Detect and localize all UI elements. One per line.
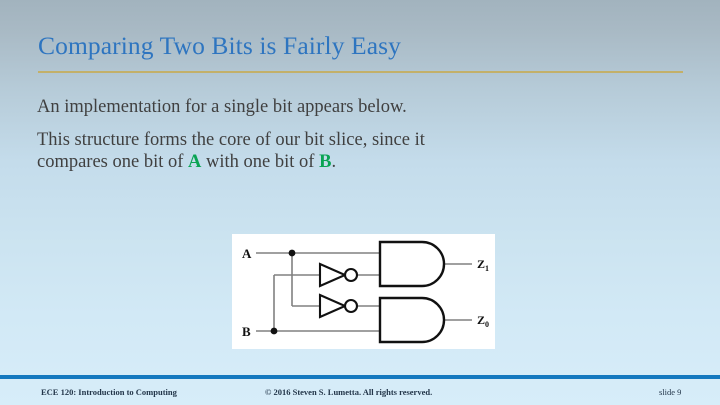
not-gate-top-bubble bbox=[345, 269, 357, 281]
junction-dot-a bbox=[289, 250, 296, 257]
junction-dot-b bbox=[271, 328, 278, 335]
logic-circuit-diagram: A B Z 1 Z 0 bbox=[232, 234, 495, 349]
slide-footer: ECE 120: Introduction to Computing © 201… bbox=[0, 379, 720, 405]
circuit-output-label-z0: Z 0 bbox=[477, 313, 489, 329]
paragraph-2-text-3: . bbox=[331, 152, 336, 172]
and-gate-bottom bbox=[380, 298, 444, 342]
circuit-output-z1-subscript: 1 bbox=[485, 264, 489, 273]
and-gate-top bbox=[380, 242, 444, 286]
paragraph-2-text-2: with one bit of bbox=[201, 152, 319, 172]
page-title: Comparing Two Bits is Fairly Easy bbox=[38, 31, 684, 61]
title-block: Comparing Two Bits is Fairly Easy bbox=[38, 31, 684, 61]
body-paragraph-2: This structure forms the core of our bit… bbox=[37, 129, 457, 174]
not-gate-top-triangle bbox=[320, 264, 345, 286]
circuit-output-z0-subscript: 0 bbox=[485, 320, 489, 329]
title-divider-rule bbox=[38, 71, 683, 73]
signal-label-a: A bbox=[188, 152, 201, 172]
slide-canvas: Comparing Two Bits is Fairly Easy An imp… bbox=[0, 0, 720, 405]
circuit-output-z1-letter: Z bbox=[477, 257, 485, 271]
circuit-diagram-panel: A B Z 1 Z 0 bbox=[232, 234, 495, 349]
not-gate-bottom-bubble bbox=[345, 300, 357, 312]
footer-copyright: © 2016 Steven S. Lumetta. All rights res… bbox=[265, 387, 432, 397]
circuit-input-label-b: B bbox=[242, 324, 251, 339]
not-gate-top bbox=[320, 264, 357, 286]
footer-course-name: ECE 120: Introduction to Computing bbox=[41, 387, 177, 397]
not-gate-bottom-triangle bbox=[320, 295, 345, 317]
body-content: An implementation for a single bit appea… bbox=[37, 96, 457, 184]
body-paragraph-1: An implementation for a single bit appea… bbox=[37, 96, 457, 119]
circuit-output-z0-letter: Z bbox=[477, 313, 485, 327]
circuit-output-label-z1: Z 1 bbox=[477, 257, 489, 273]
footer-slide-number: slide 9 bbox=[659, 387, 681, 397]
circuit-input-label-a: A bbox=[242, 246, 252, 261]
not-gate-bottom bbox=[320, 295, 357, 317]
signal-label-b: B bbox=[319, 152, 331, 172]
